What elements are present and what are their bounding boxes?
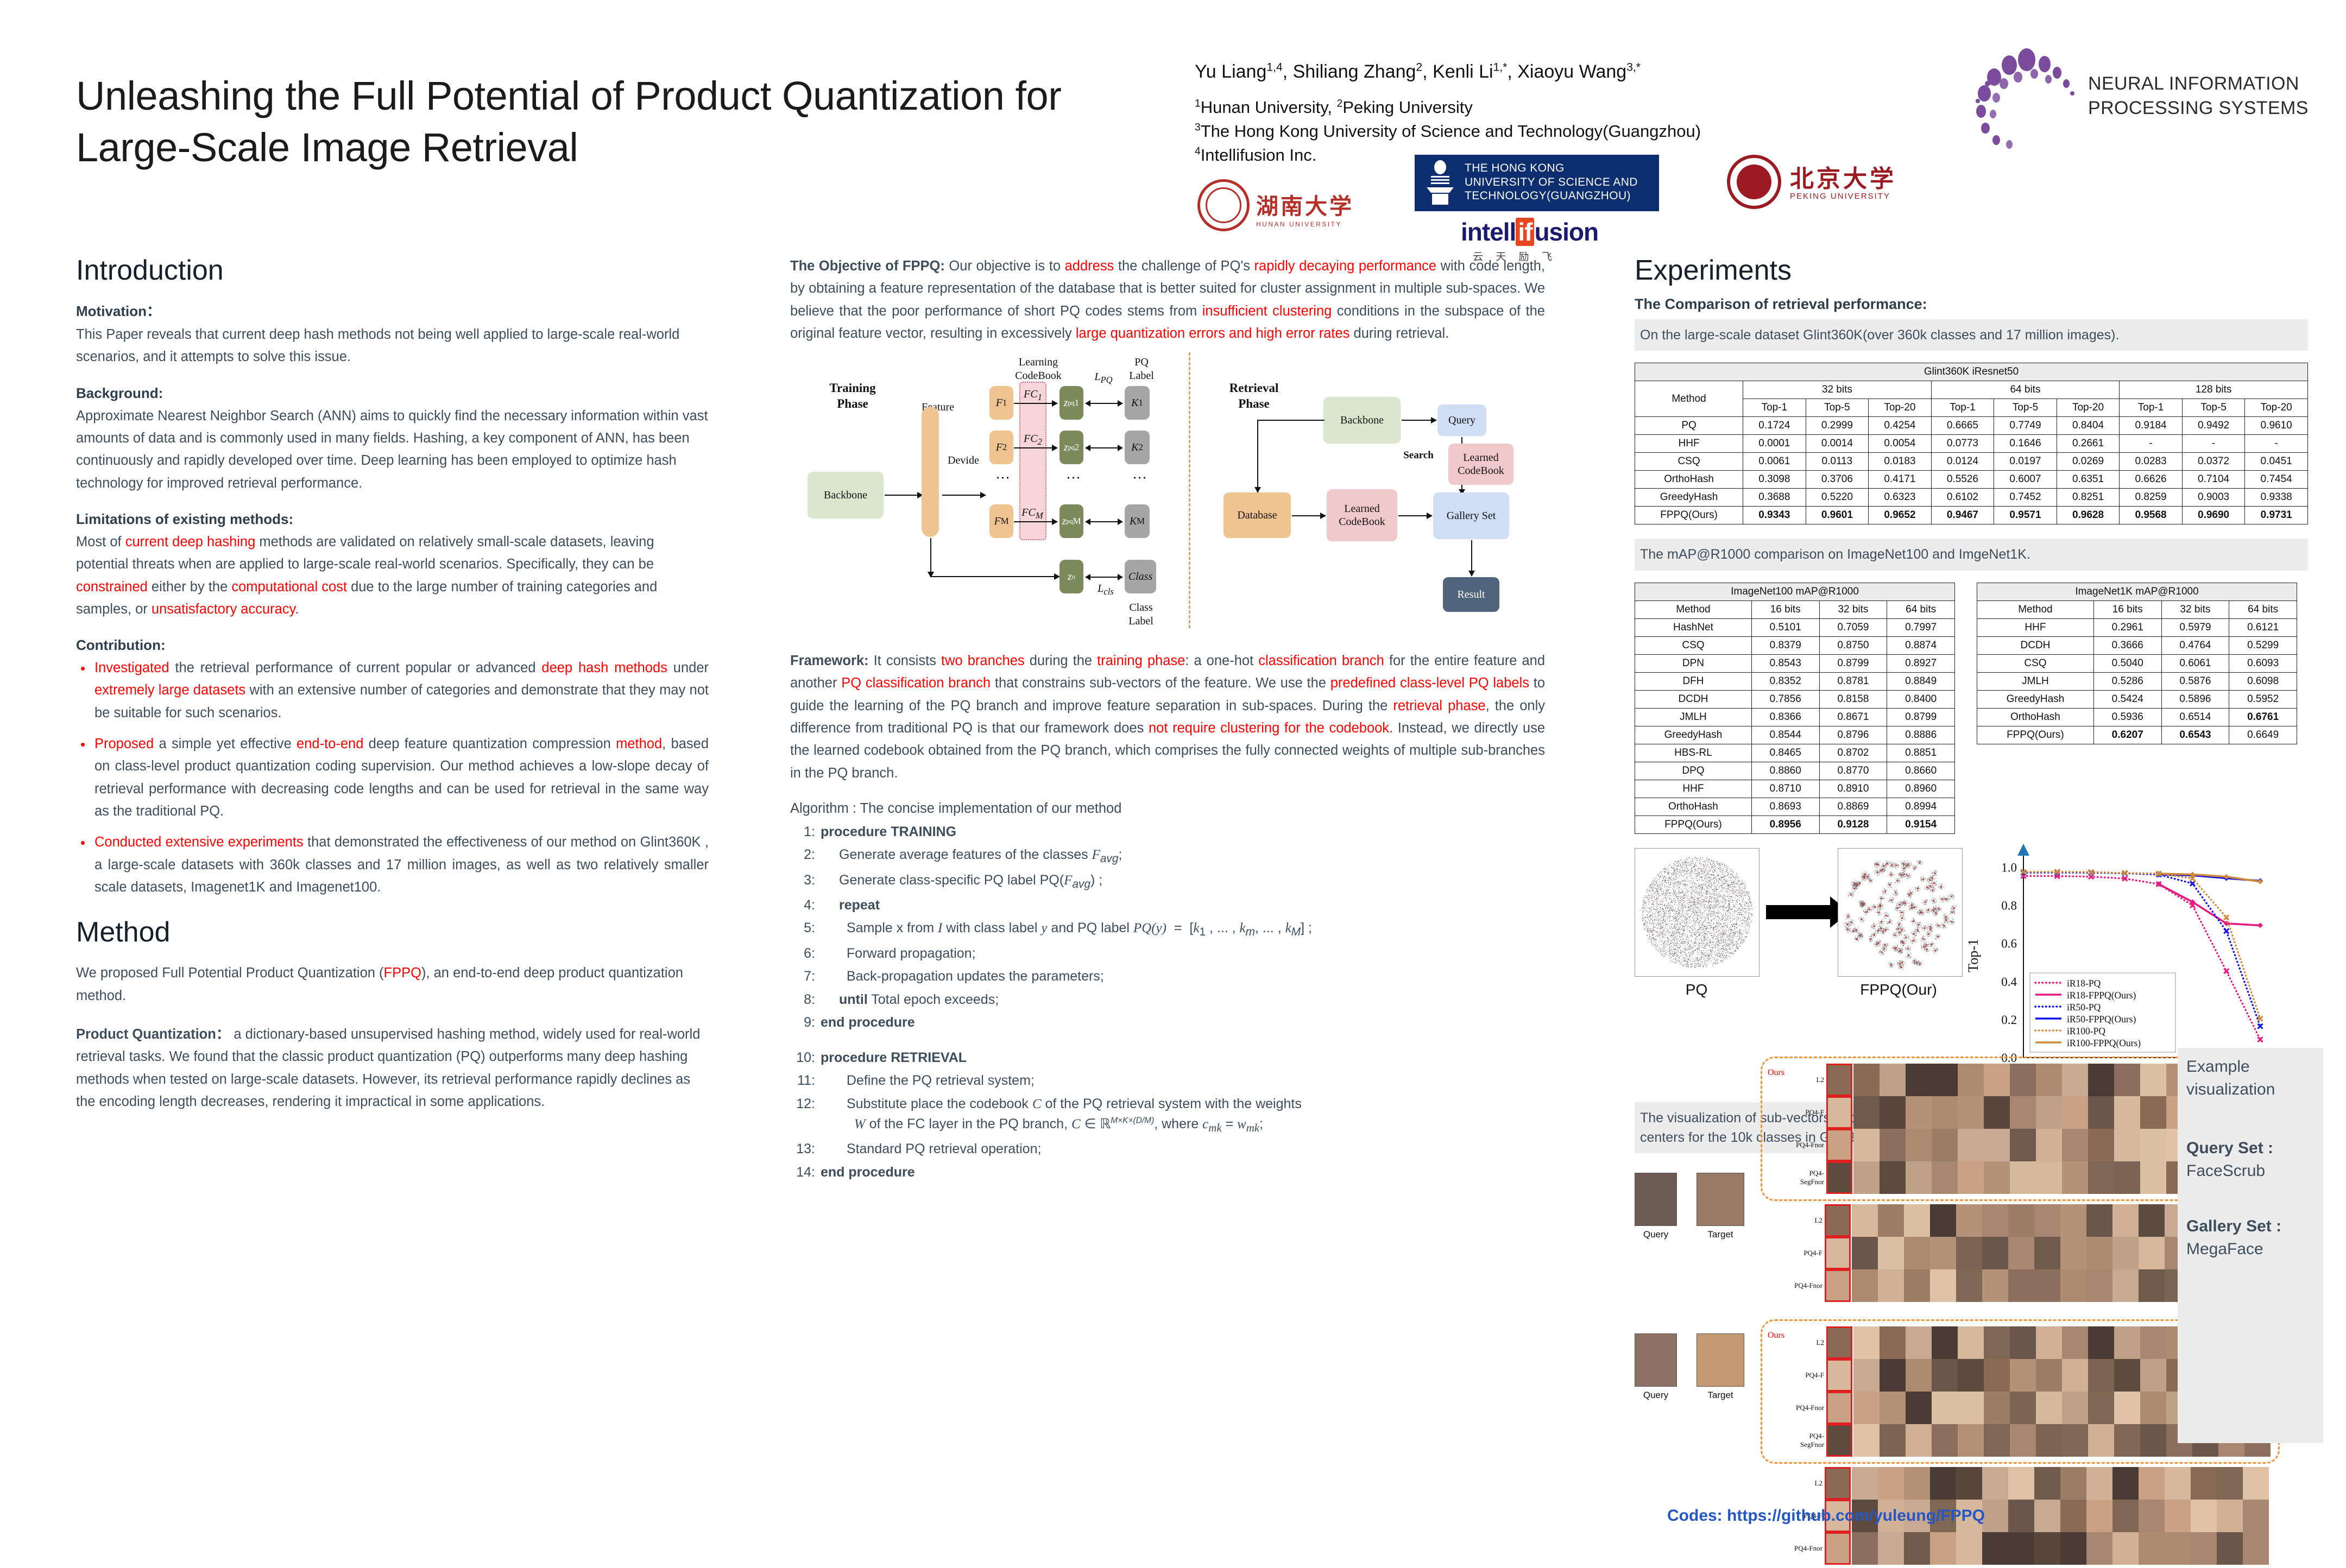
framework-text: Framework: It consists two branches duri… bbox=[790, 650, 1545, 785]
retrieved-face bbox=[2165, 1467, 2191, 1500]
retrieved-face bbox=[2088, 1064, 2114, 1096]
group-header: 32 bits bbox=[1743, 381, 1932, 399]
row-method: HashNet bbox=[1635, 618, 1752, 636]
table-cell: 0.8781 bbox=[1819, 672, 1887, 690]
table-cell: 0.5424 bbox=[2093, 690, 2161, 708]
table-cell: 0.6323 bbox=[1869, 489, 1932, 507]
fppq-figure-label: FPPQ(Our) bbox=[1837, 981, 1960, 998]
arrow-devide bbox=[942, 495, 986, 496]
retrieved-face bbox=[1853, 1096, 1880, 1129]
retrieved-face-top1 bbox=[1825, 1532, 1851, 1565]
sub-header: Top-20 bbox=[2057, 399, 2120, 417]
neurips-swirl-icon bbox=[1966, 43, 2080, 152]
retrieved-face-top1 bbox=[1826, 1424, 1852, 1457]
retrieved-face bbox=[1930, 1204, 1956, 1237]
retrieved-face bbox=[2034, 1237, 2060, 1269]
list-item: Proposed a simple yet effective end-to-e… bbox=[76, 733, 709, 823]
hkust-logo-text: THE HONG KONGUNIVERSITY OF SCIENCE ANDTE… bbox=[1465, 161, 1638, 203]
table-cell: 0.9610 bbox=[2245, 417, 2308, 435]
face-row-label: PQ4-SegFnor bbox=[1793, 1169, 1824, 1186]
table-cell: 0.5040 bbox=[2093, 654, 2161, 672]
table-cell: 0.7856 bbox=[1751, 690, 1819, 708]
retrieved-face bbox=[1852, 1204, 1878, 1237]
framework-runs: It consists two branches during the trai… bbox=[790, 653, 1545, 780]
table-cell: 0.5876 bbox=[2161, 672, 2229, 690]
row-method: JMLH bbox=[1977, 672, 2094, 690]
face-row-label: PQ4-F bbox=[1791, 1249, 1822, 1257]
retrieved-face bbox=[1880, 1359, 1906, 1392]
retrieved-face bbox=[2088, 1424, 2114, 1457]
table-title: ImageNet1K mAP@R1000 bbox=[1977, 583, 2297, 600]
arrow-f1-z1 bbox=[1014, 403, 1057, 404]
table-cell: 0.7104 bbox=[2182, 471, 2245, 489]
sub-header: Top-5 bbox=[1994, 399, 2057, 417]
table-cell: 0.0113 bbox=[1806, 453, 1869, 471]
row-method: GreedyHash bbox=[1977, 690, 2094, 708]
table-row: HashNet0.51010.70590.7997 bbox=[1635, 618, 1955, 636]
retrieved-face bbox=[1932, 1424, 1958, 1457]
table-cell: 0.5979 bbox=[2161, 618, 2229, 636]
poster-header: Unleashing the Full Potential of Product… bbox=[0, 0, 2346, 255]
retrieved-face-top1 bbox=[1826, 1161, 1852, 1194]
zpq-2: zpq2 bbox=[1060, 431, 1083, 464]
comparison-label: The Comparison of retrieval performance: bbox=[1635, 296, 2308, 313]
query-target-pair-2: Query Target bbox=[1635, 1333, 1744, 1401]
retrieved-face bbox=[1984, 1129, 2010, 1161]
sub-header: Top-5 bbox=[2182, 399, 2245, 417]
sub-header: Top-5 bbox=[1806, 399, 1869, 417]
table-row: OrthoHash0.86930.88690.8994 bbox=[1635, 798, 1955, 815]
algo-line-12: 12: Substitute place the codebook C of t… bbox=[790, 1094, 1545, 1137]
row-method: CSQ bbox=[1635, 453, 1743, 471]
algorithm-title-rest: : The concise implementation of our meth… bbox=[849, 801, 1122, 816]
table-cell: 0.9128 bbox=[1819, 815, 1887, 833]
retrieved-face bbox=[1853, 1161, 1880, 1194]
map-caption: The mAP@R1000 comparison on ImageNet100 … bbox=[1635, 539, 2308, 570]
table-cell: 0.8874 bbox=[1887, 636, 1955, 654]
retrieved-face bbox=[1982, 1467, 2008, 1500]
row-method: OrthoHash bbox=[1635, 798, 1752, 815]
retrieved-face bbox=[2114, 1326, 2140, 1359]
retrieved-face bbox=[2112, 1237, 2139, 1269]
database-box: Database bbox=[1224, 492, 1291, 538]
table-cell: 0.6351 bbox=[2057, 471, 2120, 489]
table-cell: 0.6121 bbox=[2229, 618, 2297, 636]
loss-pq-label: LPQ bbox=[1084, 371, 1122, 385]
table-cell: 0.6514 bbox=[2161, 708, 2229, 726]
retrieved-face bbox=[2060, 1532, 2086, 1565]
retrieved-face bbox=[1932, 1064, 1958, 1096]
table-cell: 0.5952 bbox=[2229, 690, 2297, 708]
table-cell: 0.9003 bbox=[2182, 489, 2245, 507]
retrieved-face bbox=[2088, 1392, 2114, 1424]
retrieved-face bbox=[2243, 1532, 2269, 1565]
retrieved-face bbox=[1906, 1392, 1932, 1424]
table-cell: 0.9467 bbox=[1931, 507, 1994, 524]
retrieved-face bbox=[2008, 1532, 2034, 1565]
query-set-label: Query Set : bbox=[2186, 1137, 2315, 1160]
retrieved-face bbox=[2036, 1424, 2062, 1457]
k-2: K2 bbox=[1125, 431, 1150, 464]
hkust-emblem-icon bbox=[1422, 160, 1458, 206]
retrieved-face bbox=[2139, 1500, 2165, 1532]
table-cell: 0.5286 bbox=[2093, 672, 2161, 690]
retrieved-face bbox=[2243, 1500, 2269, 1532]
table-cell: 0.9568 bbox=[2120, 507, 2183, 524]
retrieved-face bbox=[1906, 1359, 1932, 1392]
retrieved-face-top1 bbox=[1825, 1467, 1851, 1500]
face-row-label: L2 bbox=[1791, 1479, 1822, 1488]
table-row: CSQ0.50400.60610.6093 bbox=[1977, 654, 2297, 672]
face-row-label: L2 bbox=[1793, 1076, 1824, 1084]
row-method: JMLH bbox=[1635, 708, 1752, 726]
algorithm-block: Algorithm : The concise implementation o… bbox=[790, 801, 1545, 1183]
table-cell: 0.5526 bbox=[1931, 471, 1994, 489]
gallery-set-label: Gallery Set : bbox=[2186, 1215, 2315, 1238]
retrieved-face-top1 bbox=[1826, 1326, 1852, 1359]
contribution-label: Contribution: bbox=[76, 637, 709, 654]
retrieved-face bbox=[1958, 1064, 1984, 1096]
retrieved-face bbox=[1932, 1392, 1958, 1424]
retrieved-face bbox=[2062, 1096, 2088, 1129]
retrieved-face bbox=[2112, 1532, 2139, 1565]
algorithm-title: Algorithm : The concise implementation o… bbox=[790, 801, 1545, 817]
table-cell: 0.6761 bbox=[2229, 708, 2297, 726]
retrieved-face bbox=[2112, 1204, 2139, 1237]
pq-label: Product Quantization： bbox=[76, 1027, 230, 1042]
row-method: OrthoHash bbox=[1635, 471, 1743, 489]
retrieved-face bbox=[1853, 1424, 1880, 1457]
table-cell: 0.5896 bbox=[2161, 690, 2229, 708]
retrieved-face bbox=[1930, 1237, 1956, 1269]
list-item: Conducted extensive experiments that dem… bbox=[76, 831, 709, 899]
algo-line-2: 2:Generate average features of the class… bbox=[790, 845, 1545, 867]
neurips-logo: NEURAL INFORMATIONPROCESSING SYSTEMS bbox=[1966, 43, 2313, 152]
k-m: KM bbox=[1125, 504, 1150, 538]
retrieved-face bbox=[1852, 1237, 1878, 1269]
table-row: HHF0.29610.59790.6121 bbox=[1977, 618, 2297, 636]
retrieved-face bbox=[1904, 1237, 1930, 1269]
feature-bar bbox=[922, 407, 939, 537]
table-row: CSQ0.83790.87500.8874 bbox=[1635, 636, 1955, 654]
column-header: 16 bits bbox=[2093, 600, 2161, 618]
retrieved-face bbox=[2034, 1204, 2060, 1237]
algo-line-14: 14:end procedure bbox=[790, 1162, 1545, 1183]
retrieved-face bbox=[1906, 1064, 1932, 1096]
sub-header: Top-20 bbox=[2245, 399, 2308, 417]
example-visualization-label: Example visualization bbox=[2186, 1055, 2315, 1101]
face-grid-row: PQ4-Fnor bbox=[1791, 1532, 2280, 1565]
retrieved-face bbox=[2140, 1064, 2166, 1096]
backbone-box-training: Backbone bbox=[808, 472, 884, 519]
retrieved-face bbox=[1984, 1096, 2010, 1129]
glint360k-table: Glint360K iResnet50Method32 bits64 bits1… bbox=[1635, 363, 2308, 524]
retrieved-face bbox=[1880, 1129, 1906, 1161]
fppq-scatter-plot bbox=[1838, 848, 1963, 977]
backbone-box-retrieval: Backbone bbox=[1323, 397, 1401, 444]
column-header: 16 bits bbox=[1751, 600, 1819, 618]
sub-header: Top-1 bbox=[1931, 399, 1994, 417]
retrieved-face bbox=[1906, 1129, 1932, 1161]
table-row: JMLH0.83660.86710.8799 bbox=[1635, 708, 1955, 726]
retrieved-face bbox=[2140, 1392, 2166, 1424]
table-cell: 0.0283 bbox=[2120, 453, 2183, 471]
retrieved-face bbox=[1853, 1326, 1880, 1359]
retrieved-face bbox=[2217, 1532, 2243, 1565]
retrieved-face bbox=[2008, 1269, 2034, 1302]
devide-label: Devide bbox=[939, 454, 988, 467]
query-face-1 bbox=[1635, 1173, 1677, 1226]
feature-sub-1: F1 bbox=[989, 386, 1013, 420]
table-row: DCDH0.36660.47640.5299 bbox=[1977, 636, 2297, 654]
table-cell: 0.8671 bbox=[1819, 708, 1887, 726]
retrieved-face bbox=[1904, 1269, 1930, 1302]
hunan-logo-cn: 湖南大学 bbox=[1256, 188, 1354, 220]
retrieved-face bbox=[1880, 1161, 1906, 1194]
table-row: HHF0.00010.00140.00540.07730.16460.2661-… bbox=[1635, 435, 2308, 453]
retrieved-face bbox=[2008, 1500, 2034, 1532]
table-cell: 0.0183 bbox=[1869, 453, 1932, 471]
retrieved-face bbox=[2086, 1237, 2112, 1269]
arrow-to-zo bbox=[1019, 576, 1060, 577]
target-face-1 bbox=[1697, 1173, 1744, 1226]
retrieved-face bbox=[2060, 1204, 2086, 1237]
table-cell: 0.0372 bbox=[2182, 453, 2245, 471]
row-method: CSQ bbox=[1635, 636, 1752, 654]
method-heading: Method bbox=[76, 917, 709, 948]
retrieved-face bbox=[2165, 1500, 2191, 1532]
retrieved-face bbox=[1853, 1392, 1880, 1424]
retrieved-face bbox=[1958, 1129, 1984, 1161]
retrieved-face bbox=[2114, 1064, 2140, 1096]
table-cell: 0.1724 bbox=[1743, 417, 1806, 435]
retrieved-face bbox=[2139, 1269, 2165, 1302]
table-title: ImageNet100 mAP@R1000 bbox=[1635, 583, 1955, 600]
retrieved-face bbox=[1880, 1064, 1906, 1096]
retrieved-face bbox=[2086, 1269, 2112, 1302]
retrieved-face bbox=[2060, 1467, 2086, 1500]
face-row-label: PQ4-SegFnor bbox=[1793, 1432, 1824, 1449]
retrieved-face bbox=[1982, 1500, 2008, 1532]
target-label-2: Target bbox=[1697, 1390, 1744, 1401]
table-cell: 0.2999 bbox=[1806, 417, 1869, 435]
table-cell: 0.5220 bbox=[1806, 489, 1869, 507]
algo-line-11: 11: Define the PQ retrieval system; bbox=[790, 1071, 1545, 1091]
table-cell: 0.8693 bbox=[1751, 798, 1819, 815]
table-row: DCDH0.78560.81580.8400 bbox=[1635, 690, 1955, 708]
retrieved-face bbox=[2139, 1204, 2165, 1237]
experiments-heading: Experiments bbox=[1635, 255, 2308, 286]
retrieved-face bbox=[2088, 1359, 2114, 1392]
chart-ylabel: Top-1 bbox=[1965, 939, 1982, 972]
table-cell: 0.9184 bbox=[2120, 417, 2183, 435]
table-cell: 0.8400 bbox=[1887, 690, 1955, 708]
search-label: Search bbox=[1394, 449, 1443, 462]
retrieved-face bbox=[1880, 1424, 1906, 1457]
limitations-label: Limitations of existing methods: bbox=[76, 511, 709, 528]
retrieved-face bbox=[1878, 1204, 1904, 1237]
retrieved-face-top1 bbox=[1826, 1392, 1852, 1424]
loss-cls-label: Lcls bbox=[1087, 583, 1125, 597]
retrieved-face bbox=[2036, 1359, 2062, 1392]
retrieved-face bbox=[1958, 1326, 1984, 1359]
row-method: DPQ bbox=[1635, 762, 1752, 780]
ours-label: Ours bbox=[1768, 1331, 1784, 1341]
transform-arrow-icon bbox=[1766, 905, 1831, 919]
retrieved-face bbox=[2060, 1500, 2086, 1532]
table-row: OrthoHash0.30980.37060.41710.55260.60070… bbox=[1635, 471, 2308, 489]
retrieved-face bbox=[1932, 1359, 1958, 1392]
retrieved-face bbox=[2140, 1424, 2166, 1457]
retrieved-face bbox=[1930, 1467, 1956, 1500]
row-method: HHF bbox=[1977, 618, 2094, 636]
retrieved-face bbox=[1904, 1467, 1930, 1500]
pku-logo-en: PEKING UNIVERSITY bbox=[1790, 192, 1890, 201]
retrieved-face bbox=[2217, 1467, 2243, 1500]
retrieved-face-top1 bbox=[1825, 1237, 1851, 1269]
line-feature-down bbox=[930, 538, 931, 577]
product-quantization-text: Product Quantization： a dictionary-based… bbox=[76, 1023, 709, 1113]
row-method: FPPQ(Ours) bbox=[1635, 507, 1743, 524]
dbl-arrow-zo-class bbox=[1086, 577, 1122, 578]
retrieved-face bbox=[1878, 1532, 1904, 1565]
glint-caption: On the large-scale dataset Glint360K(ove… bbox=[1635, 319, 2308, 351]
table-cell: 0.8379 bbox=[1751, 636, 1819, 654]
example-visualization-sidebar: Example visualization Query Set : FaceSc… bbox=[2178, 1048, 2323, 1443]
arrow-gallery-result bbox=[1471, 540, 1472, 576]
retrieved-face bbox=[2139, 1532, 2165, 1565]
codes-link[interactable]: Codes: https://github.com/yuleung/FPPQ bbox=[1667, 1507, 1985, 1525]
table-cell: 0.4764 bbox=[2161, 636, 2229, 654]
poster-root: Unleashing the Full Potential of Product… bbox=[0, 0, 2346, 1564]
algo-line-5: 5: Sample x from I with class label y an… bbox=[790, 918, 1545, 940]
arrow-f2-z2 bbox=[1014, 447, 1057, 448]
row-method: DCDH bbox=[1977, 636, 2094, 654]
table-cell: 0.0001 bbox=[1743, 435, 1806, 453]
table-cell: 0.8886 bbox=[1887, 726, 1955, 744]
table-row: GreedyHash0.54240.58960.5952 bbox=[1977, 690, 2297, 708]
retrieved-face bbox=[2140, 1161, 2166, 1194]
retrieved-face bbox=[1932, 1096, 1958, 1129]
retrieved-face bbox=[2114, 1161, 2140, 1194]
retrieved-face bbox=[1853, 1129, 1880, 1161]
phase-divider bbox=[1189, 352, 1190, 628]
z-output: zo bbox=[1060, 560, 1083, 593]
pku-seal-icon bbox=[1727, 155, 1781, 209]
retrieved-face bbox=[1880, 1326, 1906, 1359]
retrieved-face bbox=[1930, 1532, 1956, 1565]
retrieved-face bbox=[2036, 1064, 2062, 1096]
retrieved-face bbox=[1958, 1359, 1984, 1392]
retrieved-face bbox=[1956, 1532, 1982, 1565]
row-method: DCDH bbox=[1635, 690, 1752, 708]
retrieved-face bbox=[2114, 1424, 2140, 1457]
table-cell: 0.7059 bbox=[1819, 618, 1887, 636]
retrieved-face bbox=[2112, 1269, 2139, 1302]
table-cell: - bbox=[2182, 435, 2245, 453]
table-cell: 0.9731 bbox=[2245, 507, 2308, 524]
retrieved-face bbox=[1906, 1096, 1932, 1129]
retrieved-face bbox=[1932, 1129, 1958, 1161]
retrieved-face bbox=[2062, 1392, 2088, 1424]
table-row: FPPQ(Ours)0.89560.91280.9154 bbox=[1635, 815, 1955, 833]
feature-sub-m: FM bbox=[989, 504, 1013, 538]
class-box: Class bbox=[1125, 560, 1156, 593]
face-grid-row: L2 bbox=[1791, 1467, 2280, 1500]
pq-scatter-plot bbox=[1635, 848, 1759, 977]
hunan-logo-en: HUNAN UNIVERSITY bbox=[1256, 220, 1342, 228]
zpq-m: zpqM bbox=[1060, 504, 1083, 538]
table-cell: 0.9601 bbox=[1806, 507, 1869, 524]
table-cell: 0.8544 bbox=[1751, 726, 1819, 744]
retrieved-face bbox=[1906, 1424, 1932, 1457]
retrieved-face bbox=[1984, 1424, 2010, 1457]
class-label-caption: ClassLabel bbox=[1116, 601, 1166, 628]
column-header: 64 bits bbox=[2229, 600, 2297, 618]
retrieved-face bbox=[1853, 1359, 1880, 1392]
row-method: PQ bbox=[1635, 417, 1743, 435]
table-cell: 0.8994 bbox=[1887, 798, 1955, 815]
table-cell: 0.5101 bbox=[1751, 618, 1819, 636]
motivation-text: This Paper reveals that current deep has… bbox=[76, 324, 709, 369]
framework-label: Framework: bbox=[790, 653, 869, 668]
retrieved-face bbox=[1984, 1064, 2010, 1096]
table-cell: 0.2661 bbox=[2057, 435, 2120, 453]
table-cell: 0.8869 bbox=[1819, 798, 1887, 815]
table-cell: 0.9338 bbox=[2245, 489, 2308, 507]
algo-line-1: 1:procedure TRAINING bbox=[790, 822, 1545, 843]
retrieved-face bbox=[2034, 1269, 2060, 1302]
retrieved-face bbox=[2140, 1326, 2166, 1359]
line-to-database bbox=[1257, 420, 1325, 421]
algorithm-title-bold: Algorithm bbox=[790, 801, 849, 816]
table-cell: 0.9690 bbox=[2182, 507, 2245, 524]
column-header: 32 bits bbox=[2161, 600, 2229, 618]
column-header: 32 bits bbox=[1819, 600, 1887, 618]
face-retrieval-panel: Query Target Query T bbox=[1635, 1173, 2308, 1477]
retrieved-face bbox=[1878, 1467, 1904, 1500]
algo-line-4: 4:repeat bbox=[790, 895, 1545, 916]
table-cell: 0.6207 bbox=[2093, 726, 2161, 744]
retrieved-face bbox=[2008, 1467, 2034, 1500]
ellipsis-k: ⋮ bbox=[1136, 471, 1143, 485]
table-cell: 0.0061 bbox=[1743, 453, 1806, 471]
table-cell: 0.8259 bbox=[2120, 489, 2183, 507]
table-cell: 0.6098 bbox=[2229, 672, 2297, 690]
retrieved-face bbox=[2114, 1096, 2140, 1129]
arrow-codebook-gallery bbox=[1398, 515, 1432, 516]
retrieved-face bbox=[1958, 1161, 1984, 1194]
row-method: CSQ bbox=[1977, 654, 2094, 672]
retrieved-face bbox=[2008, 1237, 2034, 1269]
algo-line-10: 10:procedure RETRIEVAL bbox=[790, 1048, 1545, 1068]
column-header: Method bbox=[1635, 381, 1743, 417]
ellipsis-f: ⋮ bbox=[999, 471, 1006, 485]
algo-line-9: 9:end procedure bbox=[790, 1013, 1545, 1033]
retrieved-face bbox=[1982, 1237, 2008, 1269]
table-cell: 0.6093 bbox=[2229, 654, 2297, 672]
retrieved-face bbox=[2191, 1500, 2217, 1532]
contribution-list: Investigated the retrieval performance o… bbox=[76, 657, 709, 899]
arrow-backbone-feature bbox=[885, 495, 923, 496]
retrieved-face bbox=[2010, 1392, 2036, 1424]
retrieved-face-top1 bbox=[1826, 1129, 1852, 1161]
dbl-arrow-z1-k1 bbox=[1086, 403, 1122, 404]
retrieved-face bbox=[1932, 1326, 1958, 1359]
algo-line-13: 13: Standard PQ retrieval operation; bbox=[790, 1139, 1545, 1160]
table-cell: 0.8770 bbox=[1819, 762, 1887, 780]
retrieved-face bbox=[2036, 1392, 2062, 1424]
